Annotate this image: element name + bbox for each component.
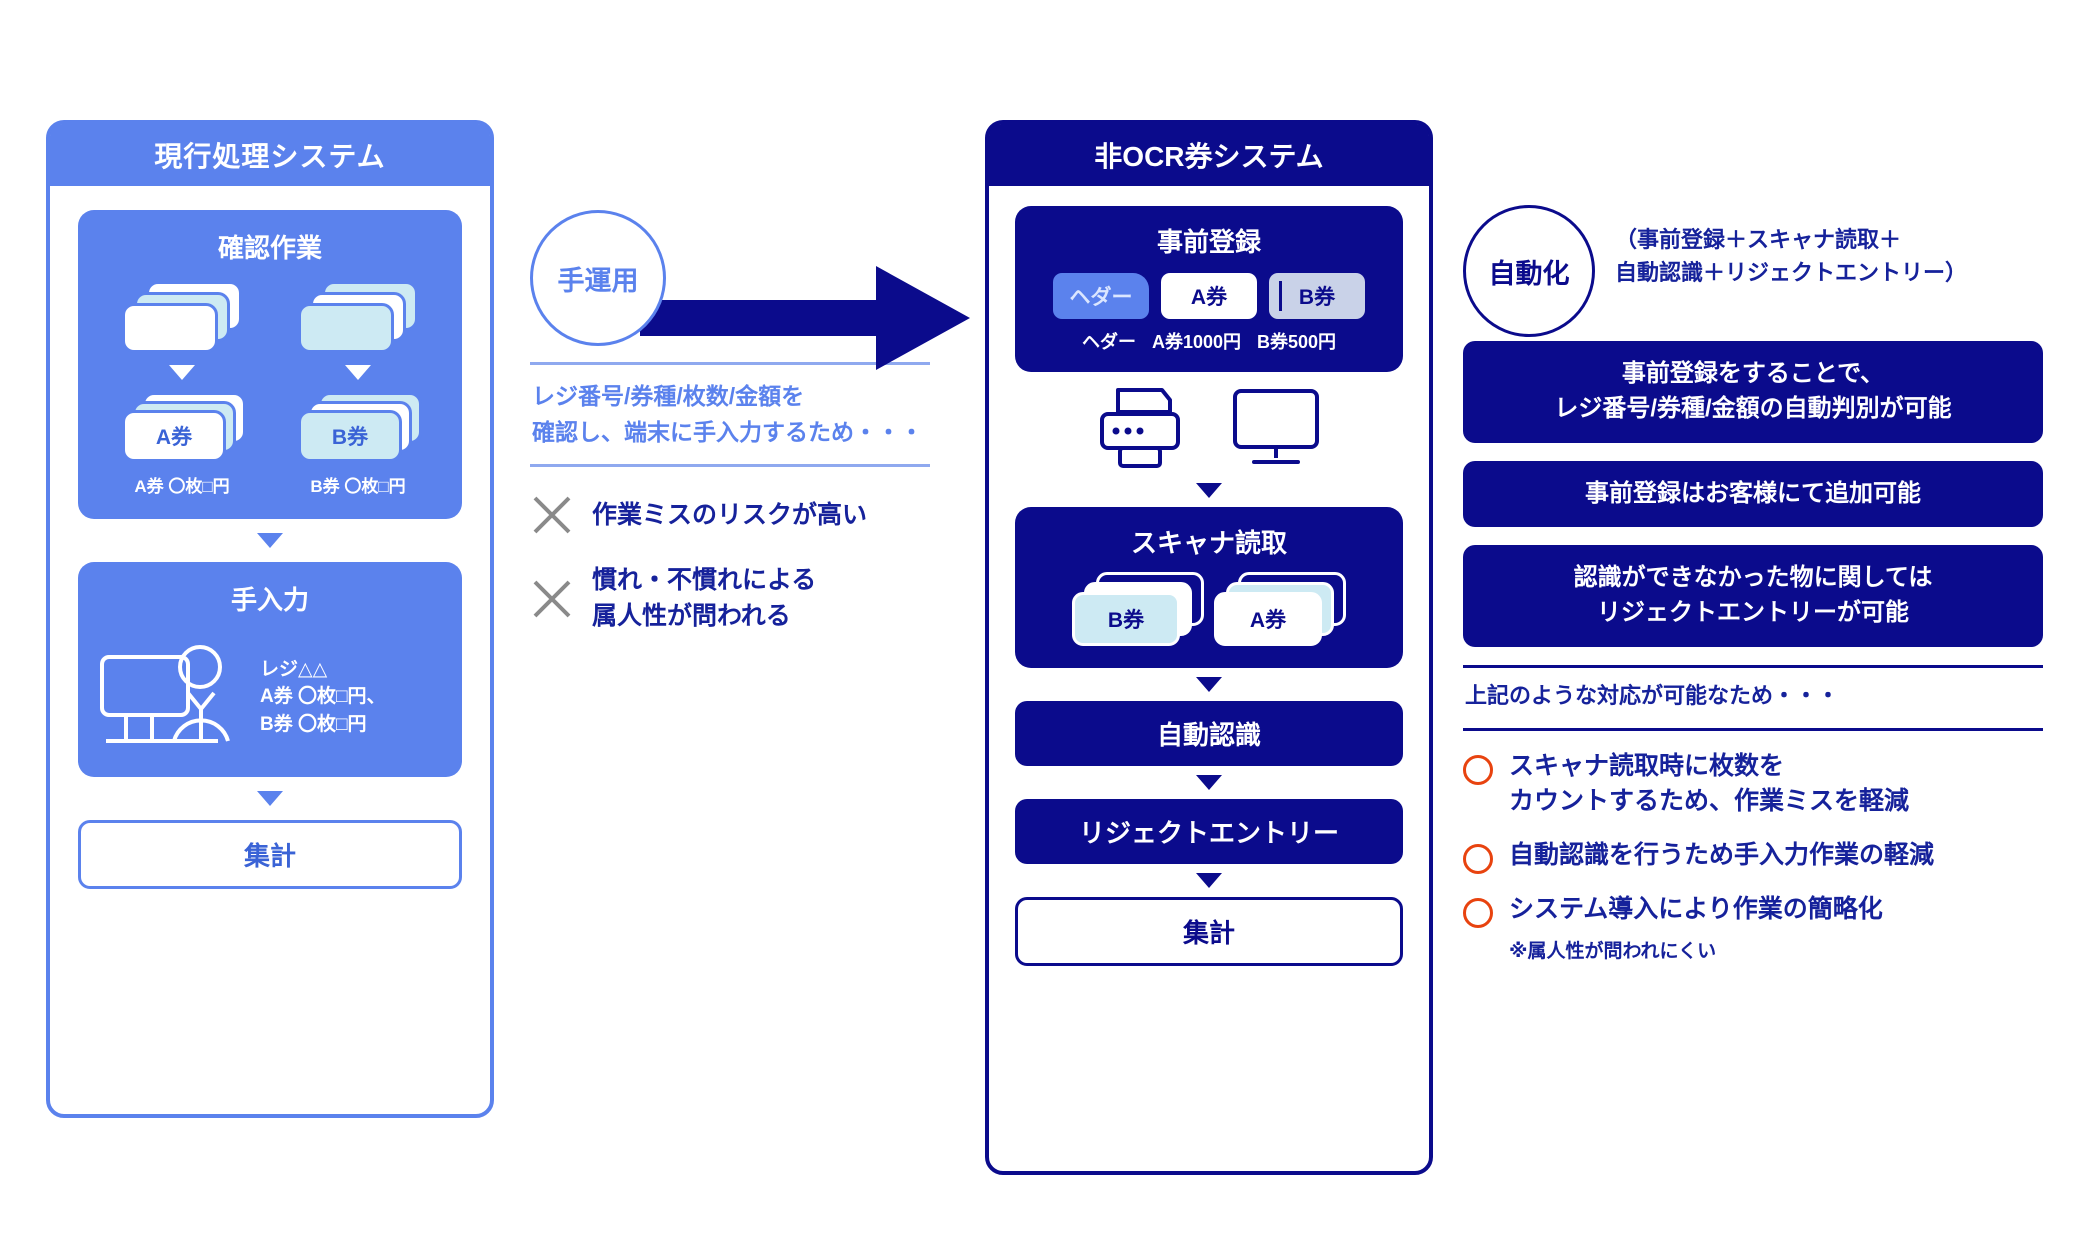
issue-text: 作業ミスのリスクが高い xyxy=(592,498,867,534)
circle-bullet-icon xyxy=(1463,755,1493,785)
automation-header: 自動化 （事前登録＋スキャナ読取＋ 自動認識＋リジェクトエントリー） xyxy=(1463,205,2043,341)
flow-arrow-icon xyxy=(1196,483,1222,498)
scanner-ticket-stacks: B券 A券 xyxy=(1029,572,1389,650)
outcome-item: システム導入により作業の簡略化 xyxy=(1463,892,2043,928)
ticket-stack-white-icon xyxy=(122,281,242,355)
automation-badge: 自動化 xyxy=(1463,205,1595,337)
flow-arrow-icon xyxy=(257,533,283,548)
non-ocr-system-body: 事前登録 ヘダー A券 B券 ヘダー A券1000円 B券500円 xyxy=(989,186,1429,986)
scan-ticket-b-label: B券 xyxy=(1072,592,1180,646)
confirm-work-title: 確認作業 xyxy=(94,228,446,265)
current-system-panel: 現行処理システム 確認作業 xyxy=(46,120,494,1118)
issue-text: 慣れ・不慣れによる 属人性が問われる xyxy=(592,563,816,634)
preregister-card: 事前登録 ヘダー A券 B券 ヘダー A券1000円 B券500円 xyxy=(1015,206,1403,372)
manual-line-2: A券 〇枚□円、 xyxy=(260,683,385,711)
reject-entry-box: リジェクトエントリー xyxy=(1015,799,1403,864)
automation-benefits-column: 自動化 （事前登録＋スキャナ読取＋ 自動認識＋リジェクトエントリー） 事前登録を… xyxy=(1463,205,2043,963)
outcome-text: 自動認識を行うため手入力作業の軽減 xyxy=(1509,838,1934,874)
down-arrows-row xyxy=(94,365,446,380)
benefit-box: 事前登録をすることで、 レジ番号/券種/金額の自動判別が可能 xyxy=(1463,341,2043,443)
total-box: 集計 xyxy=(1015,897,1403,966)
flow-arrow-icon xyxy=(1196,775,1222,790)
ticket-stack-a-icon: A券 xyxy=(122,392,242,464)
chip-ticket-a[interactable]: A券 xyxy=(1161,273,1257,319)
triangle-down-icon xyxy=(345,365,371,380)
manual-input-content: レジ△△ A券 〇枚□円、 B券 〇枚□円 xyxy=(94,633,446,755)
ticket-a-caption: A券 〇枚□円 xyxy=(134,472,229,497)
printer-icon xyxy=(1096,386,1184,470)
preregister-chip-row: ヘダー A券 B券 xyxy=(1029,273,1389,319)
non-ocr-system-title: 非OCR券システム xyxy=(989,124,1429,186)
automation-note-line-1: （事前登録＋スキャナ読取＋ xyxy=(1615,223,1967,256)
outcome-text: システム導入により作業の簡略化 xyxy=(1509,892,1883,928)
chip-header[interactable]: ヘダー xyxy=(1053,273,1149,319)
preregister-title: 事前登録 xyxy=(1029,222,1389,259)
non-ocr-system-panel: 非OCR券システム 事前登録 ヘダー A券 B券 ヘダー A券1000円 B券5… xyxy=(985,120,1433,1175)
diagram-canvas: 現行処理システム 確認作業 xyxy=(0,0,2076,1251)
issue-item: 作業ミスのリスクが高い xyxy=(530,493,930,537)
ticket-stack-b-icon: B券 xyxy=(298,392,418,464)
scanner-read-card: スキャナ読取 B券 A券 xyxy=(1015,507,1403,668)
manual-input-values: レジ△△ A券 〇枚□円、 B券 〇枚□円 xyxy=(260,656,385,739)
triangle-down-icon xyxy=(169,365,195,380)
x-mark-icon xyxy=(530,577,574,621)
right-arrow-icon xyxy=(640,258,970,378)
manual-input-card: 手入力 レジ△△ A券 〇枚□円、 B券 〇枚□円 xyxy=(78,562,462,777)
confirm-work-card: 確認作業 A券 xyxy=(78,210,462,519)
automation-note-line-2: 自動認識＋リジェクトエントリー） xyxy=(1615,256,1967,289)
ticket-b-label: B券 xyxy=(298,410,402,462)
manual-note-text: レジ番号/券種/枚数/金額を 確認し、端末に手入力するため・・・ xyxy=(530,365,930,464)
ticket-stacks-row xyxy=(94,281,446,355)
manual-line-1: レジ△△ xyxy=(260,656,385,684)
monitor-icon xyxy=(1230,386,1322,470)
scan-ticket-stack-a-icon: A券 xyxy=(1214,572,1346,650)
circle-bullet-icon xyxy=(1463,898,1493,928)
circle-bullet-icon xyxy=(1463,844,1493,874)
flow-arrow-icon xyxy=(257,791,283,806)
scan-ticket-stack-b-icon: B券 xyxy=(1072,572,1204,650)
current-system-body: 確認作業 A券 xyxy=(50,186,490,913)
benefit-box: 認識ができなかった物に関しては リジェクトエントリーが可能 xyxy=(1463,545,2043,647)
divider xyxy=(1463,728,2043,731)
outcome-text: スキャナ読取時に枚数を カウントするため、作業ミスを軽減 xyxy=(1509,749,1909,820)
manual-note-line-1: レジ番号/券種/枚数/金額を xyxy=(532,379,928,415)
ticket-b-caption: B券 〇枚□円 xyxy=(310,472,405,497)
devices-row xyxy=(1015,372,1403,474)
chip-a-caption: A券1000円 xyxy=(1152,328,1241,354)
auto-recognition-box: 自動認識 xyxy=(1015,701,1403,766)
chip-header-caption: ヘダー xyxy=(1082,328,1136,354)
flow-arrow-icon xyxy=(1196,873,1222,888)
manual-line-3: B券 〇枚□円 xyxy=(260,711,385,739)
benefit-box: 事前登録はお客様にて追加可能 xyxy=(1463,461,2043,528)
sorted-ticket-stacks-row: A券 B券 xyxy=(94,392,446,464)
total-box: 集計 xyxy=(78,820,462,889)
scan-ticket-a-label: A券 xyxy=(1214,592,1322,646)
chip-ticket-b[interactable]: B券 xyxy=(1269,273,1365,319)
preregister-caption-row: ヘダー A券1000円 B券500円 xyxy=(1029,328,1389,354)
outcomes-caption: 上記のような対応が可能なため・・・ xyxy=(1463,668,2043,718)
current-system-title: 現行処理システム xyxy=(50,124,490,186)
manual-note-line-2: 確認し、端末に手入力するため・・・ xyxy=(532,415,928,451)
scanner-read-title: スキャナ読取 xyxy=(1029,523,1389,560)
manual-operation-badge: 手運用 xyxy=(530,210,666,346)
x-mark-icon xyxy=(530,493,574,537)
issue-item: 慣れ・不慣れによる 属人性が問われる xyxy=(530,563,930,634)
manual-operation-notes: 手運用 レジ番号/券種/枚数/金額を 確認し、端末に手入力するため・・・ 作業ミ… xyxy=(530,210,930,634)
flow-arrow-icon xyxy=(1196,677,1222,692)
operator-at-pc-icon xyxy=(96,639,246,755)
outcomes-footnote: ※属人性が問われにくい xyxy=(1509,936,2043,963)
ticket-a-label: A券 xyxy=(122,410,226,462)
chip-b-caption: B券500円 xyxy=(1257,328,1336,354)
automation-note: （事前登録＋スキャナ読取＋ 自動認識＋リジェクトエントリー） xyxy=(1615,223,1967,289)
outcome-item: スキャナ読取時に枚数を カウントするため、作業ミスを軽減 xyxy=(1463,749,2043,820)
manual-input-title: 手入力 xyxy=(94,580,446,617)
divider xyxy=(530,464,930,467)
ticket-stack-cyan-icon xyxy=(298,281,418,355)
outcome-item: 自動認識を行うため手入力作業の軽減 xyxy=(1463,838,2043,874)
ticket-captions-row: A券 〇枚□円 B券 〇枚□円 xyxy=(94,472,446,497)
